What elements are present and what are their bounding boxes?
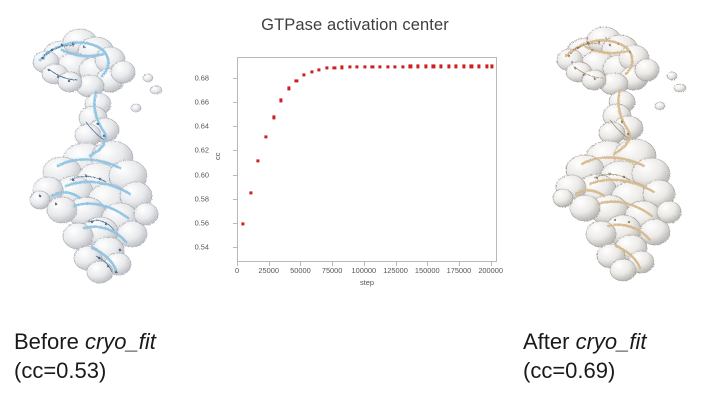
y-axis-tick-label: 0.66 xyxy=(195,97,209,106)
data-point xyxy=(386,65,389,68)
data-point xyxy=(310,70,313,73)
data-point xyxy=(455,65,458,68)
caption-after-value: (cc=0.69) xyxy=(523,356,647,385)
x-axis-tick-mark xyxy=(459,262,460,266)
x-axis-tick-mark xyxy=(491,262,492,266)
x-axis-tick-mark xyxy=(364,262,365,266)
plot-area xyxy=(237,57,497,262)
x-axis-tick-label: 150000 xyxy=(415,266,440,275)
data-point xyxy=(340,66,343,69)
data-point xyxy=(333,66,336,69)
caption-before: Before cryo_fit (cc=0.53) xyxy=(14,327,156,385)
caption-after-program: cryo_fit xyxy=(576,329,647,354)
x-axis-label: step xyxy=(237,278,497,287)
data-point xyxy=(318,68,321,71)
data-point xyxy=(356,65,359,68)
x-axis-tick-label: 175000 xyxy=(447,266,472,275)
data-point xyxy=(287,87,290,90)
y-axis-tick-label: 0.54 xyxy=(195,243,209,252)
x-axis-tick-label: 200000 xyxy=(478,266,503,275)
y-axis-tick-mark xyxy=(233,223,237,224)
data-point xyxy=(462,65,465,68)
data-point xyxy=(371,65,374,68)
data-point xyxy=(280,99,283,102)
x-axis-tick-mark xyxy=(396,262,397,266)
y-axis-tick-mark xyxy=(233,247,237,248)
y-axis-tick-mark xyxy=(233,150,237,151)
y-axis-tick-label: 0.60 xyxy=(195,170,209,179)
caption-after-prefix: After xyxy=(523,329,576,354)
x-axis-tick-label: 75000 xyxy=(322,266,343,275)
data-point xyxy=(401,65,404,68)
x-axis-tick-mark xyxy=(300,262,301,266)
x-axis-tick-mark xyxy=(269,262,270,266)
x-axis-tick-label: 50000 xyxy=(290,266,311,275)
data-point xyxy=(295,79,298,82)
data-point xyxy=(348,66,351,69)
x-axis-tick-label: 25000 xyxy=(258,266,279,275)
x-axis-tick-mark xyxy=(237,262,238,266)
data-point xyxy=(241,223,244,226)
data-point xyxy=(439,65,442,68)
chart-title: GTPase activation center xyxy=(205,16,505,35)
x-axis-tick-label: 0 xyxy=(235,266,239,275)
figure-panel: GTPase activation center cc step 0.540.5… xyxy=(0,0,720,409)
data-point xyxy=(477,65,480,68)
data-point xyxy=(302,73,305,76)
data-point xyxy=(325,67,328,70)
caption-after: After cryo_fit (cc=0.69) xyxy=(523,327,647,385)
y-axis-tick-label: 0.64 xyxy=(195,122,209,131)
y-axis-tick-mark xyxy=(233,78,237,79)
x-axis-tick-label: 100000 xyxy=(351,266,376,275)
y-axis-tick-mark xyxy=(233,126,237,127)
x-axis-tick-mark xyxy=(427,262,428,266)
data-point xyxy=(485,65,488,68)
cryo-em-map-after-svg xyxy=(520,0,720,320)
x-axis-tick-mark xyxy=(332,262,333,266)
data-point xyxy=(432,65,435,68)
y-axis-tick-mark xyxy=(233,199,237,200)
y-axis-tick-label: 0.58 xyxy=(195,194,209,203)
data-point xyxy=(424,65,427,68)
data-point xyxy=(417,65,420,68)
data-point xyxy=(249,191,252,194)
y-axis-tick-mark xyxy=(233,102,237,103)
data-point xyxy=(470,65,473,68)
cryo-em-map-before-svg xyxy=(0,0,200,320)
caption-before-program: cryo_fit xyxy=(85,329,156,354)
data-point xyxy=(378,65,381,68)
data-point xyxy=(363,65,366,68)
data-point xyxy=(447,65,450,68)
scatter-series xyxy=(238,58,496,261)
data-point xyxy=(264,135,267,138)
y-axis-label: cc xyxy=(213,153,222,160)
data-point xyxy=(394,65,397,68)
caption-before-value: (cc=0.53) xyxy=(14,356,156,385)
x-axis-tick-label: 125000 xyxy=(383,266,408,275)
data-point xyxy=(272,116,275,119)
cryo-em-structure-before xyxy=(0,0,200,320)
y-axis-tick-label: 0.68 xyxy=(195,73,209,82)
data-point xyxy=(409,65,412,68)
data-point xyxy=(490,65,493,68)
cc-vs-step-chart: GTPase activation center cc step 0.540.5… xyxy=(205,8,505,303)
y-axis-tick-label: 0.56 xyxy=(195,219,209,228)
cryo-em-structure-after xyxy=(520,0,720,320)
data-point xyxy=(257,160,260,163)
y-axis-tick-label: 0.62 xyxy=(195,146,209,155)
y-axis-tick-mark xyxy=(233,175,237,176)
caption-before-prefix: Before xyxy=(14,329,85,354)
